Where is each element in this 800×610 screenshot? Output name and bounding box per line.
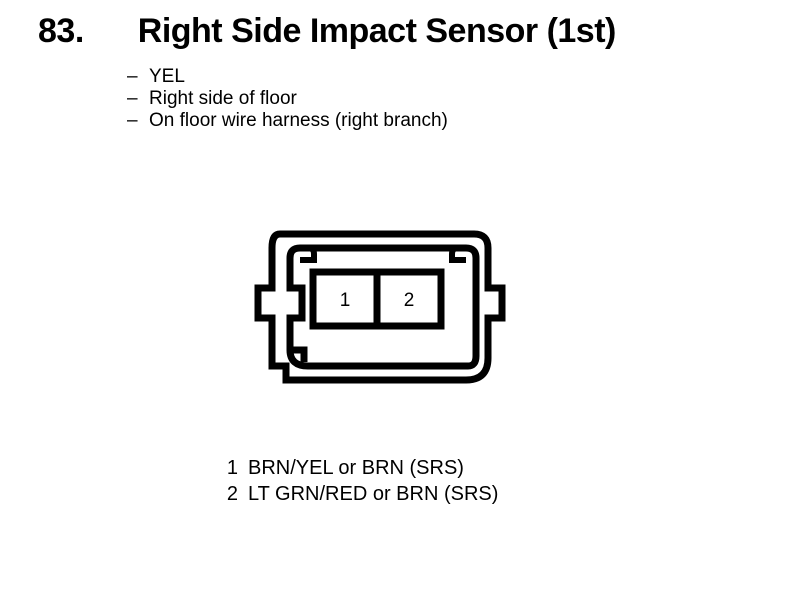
legend-pin-number: 1 [150,455,238,481]
title-row: 83. Right Side Impact Sensor (1st) [0,14,800,50]
page-header: 83. Right Side Impact Sensor (1st) [0,14,800,50]
pin-legend: 1 BRN/YEL or BRN (SRS) 2 LT GRN/RED or B… [150,455,650,507]
cavity-number-2: 2 [404,290,415,311]
diagram-page: 83. Right Side Impact Sensor (1st) – YEL… [0,0,800,610]
spec-item: – Right side of floor [127,88,747,110]
spec-list: – YEL – Right side of floor – On floor w… [127,66,747,132]
legend-row: 1 BRN/YEL or BRN (SRS) [150,455,650,481]
connector-diagram: 1 2 [246,210,506,402]
legend-wire-color: BRN/YEL or BRN (SRS) [238,455,464,481]
spec-item-label: Right side of floor [149,88,297,110]
spec-item: – YEL [127,66,747,88]
connector-hook-right-icon [452,248,470,260]
legend-row: 2 LT GRN/RED or BRN (SRS) [150,481,650,507]
dash-bullet-icon: – [127,110,149,132]
spec-item: – On floor wire harness (right branch) [127,110,747,132]
spec-item-label: On floor wire harness (right branch) [149,110,448,132]
dash-bullet-icon: – [127,88,149,110]
cavity-number-1: 1 [340,290,351,311]
page-title: Right Side Impact Sensor (1st) [138,14,616,50]
dash-bullet-icon: – [127,66,149,88]
item-number: 83. [38,14,84,50]
legend-pin-number: 2 [150,481,238,507]
connector-svg: 1 2 [246,210,506,402]
terminal-cavity-block: 1 2 [313,272,441,326]
connector-hook-left-icon [296,248,314,260]
spec-item-label: YEL [149,66,185,88]
legend-wire-color: LT GRN/RED or BRN (SRS) [238,481,498,507]
